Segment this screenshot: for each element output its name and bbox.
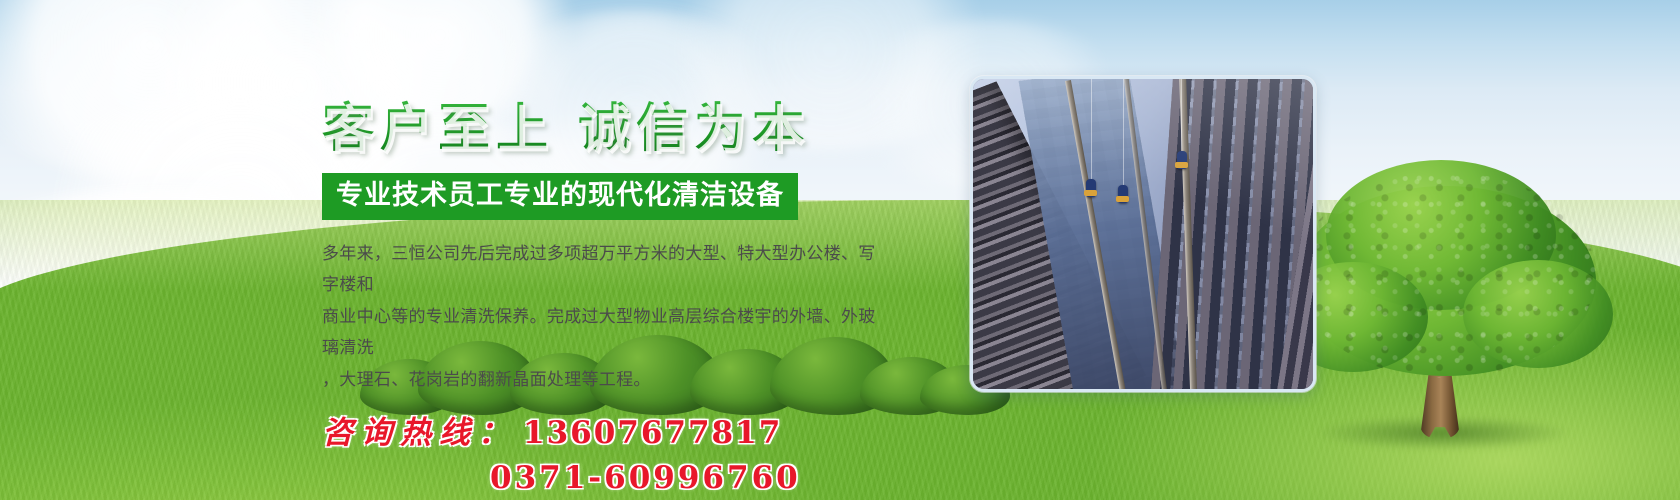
hotline-mobile-number[interactable]: 13607677817 <box>523 415 782 451</box>
window-cleaner-worker <box>1177 151 1187 169</box>
building-photo-frame <box>970 76 1316 392</box>
window-cleaner-worker <box>1118 185 1128 203</box>
banner-description: 多年来，三恒公司先后完成过多项超万平方米的大型、特大型办公楼、写字楼和 商业中心… <box>322 238 882 395</box>
hotline-primary-row: 咨询热线：13607677817 <box>322 411 902 456</box>
hotline-landline-number[interactable]: 0371-60996760 <box>322 456 902 500</box>
high-rise-window-cleaning-photo <box>973 79 1313 389</box>
blue-sky-patch <box>90 0 330 60</box>
banner-subtitle-bar: 专业技术员工专业的现代化清洁设备 <box>322 173 798 220</box>
cleaning-rope <box>1181 79 1182 157</box>
promo-banner: 客户至上 诚信为本 专业技术员工专业的现代化清洁设备 多年来，三恒公司先后完成过… <box>0 0 1680 500</box>
description-line-3: ，大理石、花岗岩的翻新晶面处理等工程。 <box>322 364 882 395</box>
banner-headline: 客户至上 诚信为本 <box>322 96 902 161</box>
banner-text-block: 客户至上 诚信为本 专业技术员工专业的现代化清洁设备 多年来，三恒公司先后完成过… <box>322 96 902 500</box>
description-line-1: 多年来，三恒公司先后完成过多项超万平方米的大型、特大型办公楼、写字楼和 <box>322 238 882 301</box>
window-cleaner-worker <box>1086 179 1096 197</box>
hotline-label: 咨询热线： <box>322 415 517 451</box>
description-line-2: 商业中心等的专业清洗保养。完成过大型物业高层综合楼宇的外墙、外玻璃清洗 <box>322 301 882 364</box>
cleaning-rope <box>1123 79 1124 191</box>
hotline-block: 咨询热线：13607677817 0371-60996760 <box>322 411 902 500</box>
cleaning-rope <box>1091 79 1092 183</box>
